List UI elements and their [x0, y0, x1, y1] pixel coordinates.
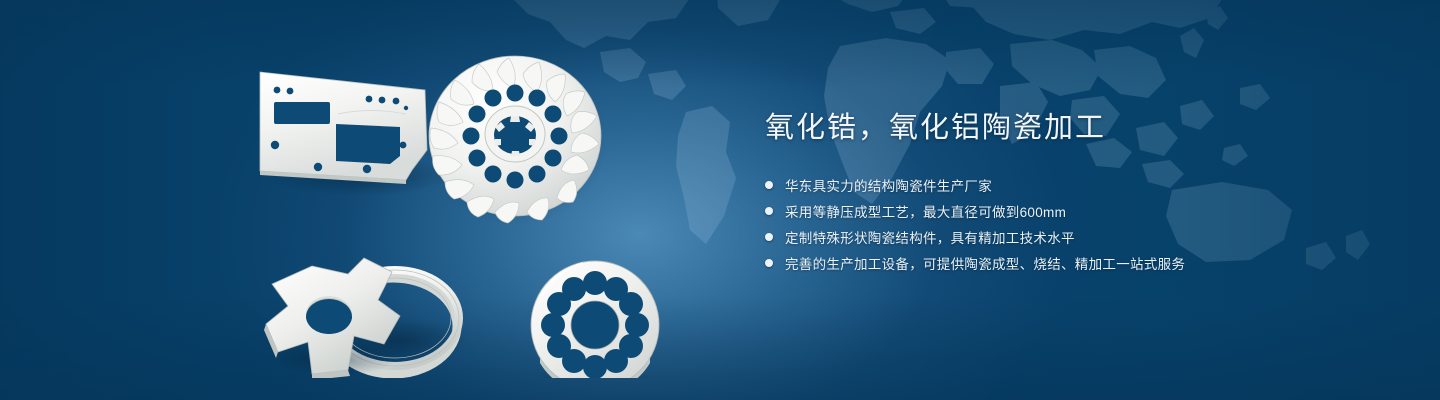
- bullet-text: 定制特殊形状陶瓷结构件，具有精加工技术水平: [785, 227, 1075, 247]
- dot-bullet-icon: [765, 207, 773, 215]
- dot-bullet-icon: [765, 233, 773, 241]
- feature-bullet-list: 华东具实力的结构陶瓷件生产厂家 采用等静压成型工艺，最大直径可做到600mm 定…: [765, 174, 1385, 273]
- hero-banner: 氧化锆，氧化铝陶瓷加工 华东具实力的结构陶瓷件生产厂家 采用等静压成型工艺，最大…: [0, 0, 1440, 400]
- copy-block: 氧化锆，氧化铝陶瓷加工 华东具实力的结构陶瓷件生产厂家 采用等静压成型工艺，最大…: [765, 108, 1385, 278]
- bullet-text: 采用等静压成型工艺，最大直径可做到600mm: [785, 201, 1066, 221]
- ceramic-impeller-photo: [423, 56, 607, 226]
- dot-bullet-icon: [765, 181, 773, 189]
- ceramic-plate-photo: [260, 72, 452, 196]
- headline: 氧化锆，氧化铝陶瓷加工: [765, 108, 1385, 148]
- list-item: 华东具实力的结构陶瓷件生产厂家: [765, 174, 1385, 195]
- list-item: 定制特殊形状陶瓷结构件，具有精加工技术水平: [765, 226, 1385, 247]
- ceramic-perforated-disc-photo: [531, 261, 663, 378]
- dot-bullet-icon: [765, 259, 773, 267]
- product-photo-group: [230, 28, 700, 378]
- list-item: 完善的生产加工设备，可提供陶瓷成型、烧结、精加工一站式服务: [765, 252, 1385, 273]
- ceramic-cross-part-photo: [264, 258, 400, 378]
- bullet-text: 华东具实力的结构陶瓷件生产厂家: [785, 175, 992, 195]
- bullet-text: 完善的生产加工设备，可提供陶瓷成型、烧结、精加工一站式服务: [785, 253, 1185, 273]
- list-item: 采用等静压成型工艺，最大直径可做到600mm: [765, 200, 1385, 221]
